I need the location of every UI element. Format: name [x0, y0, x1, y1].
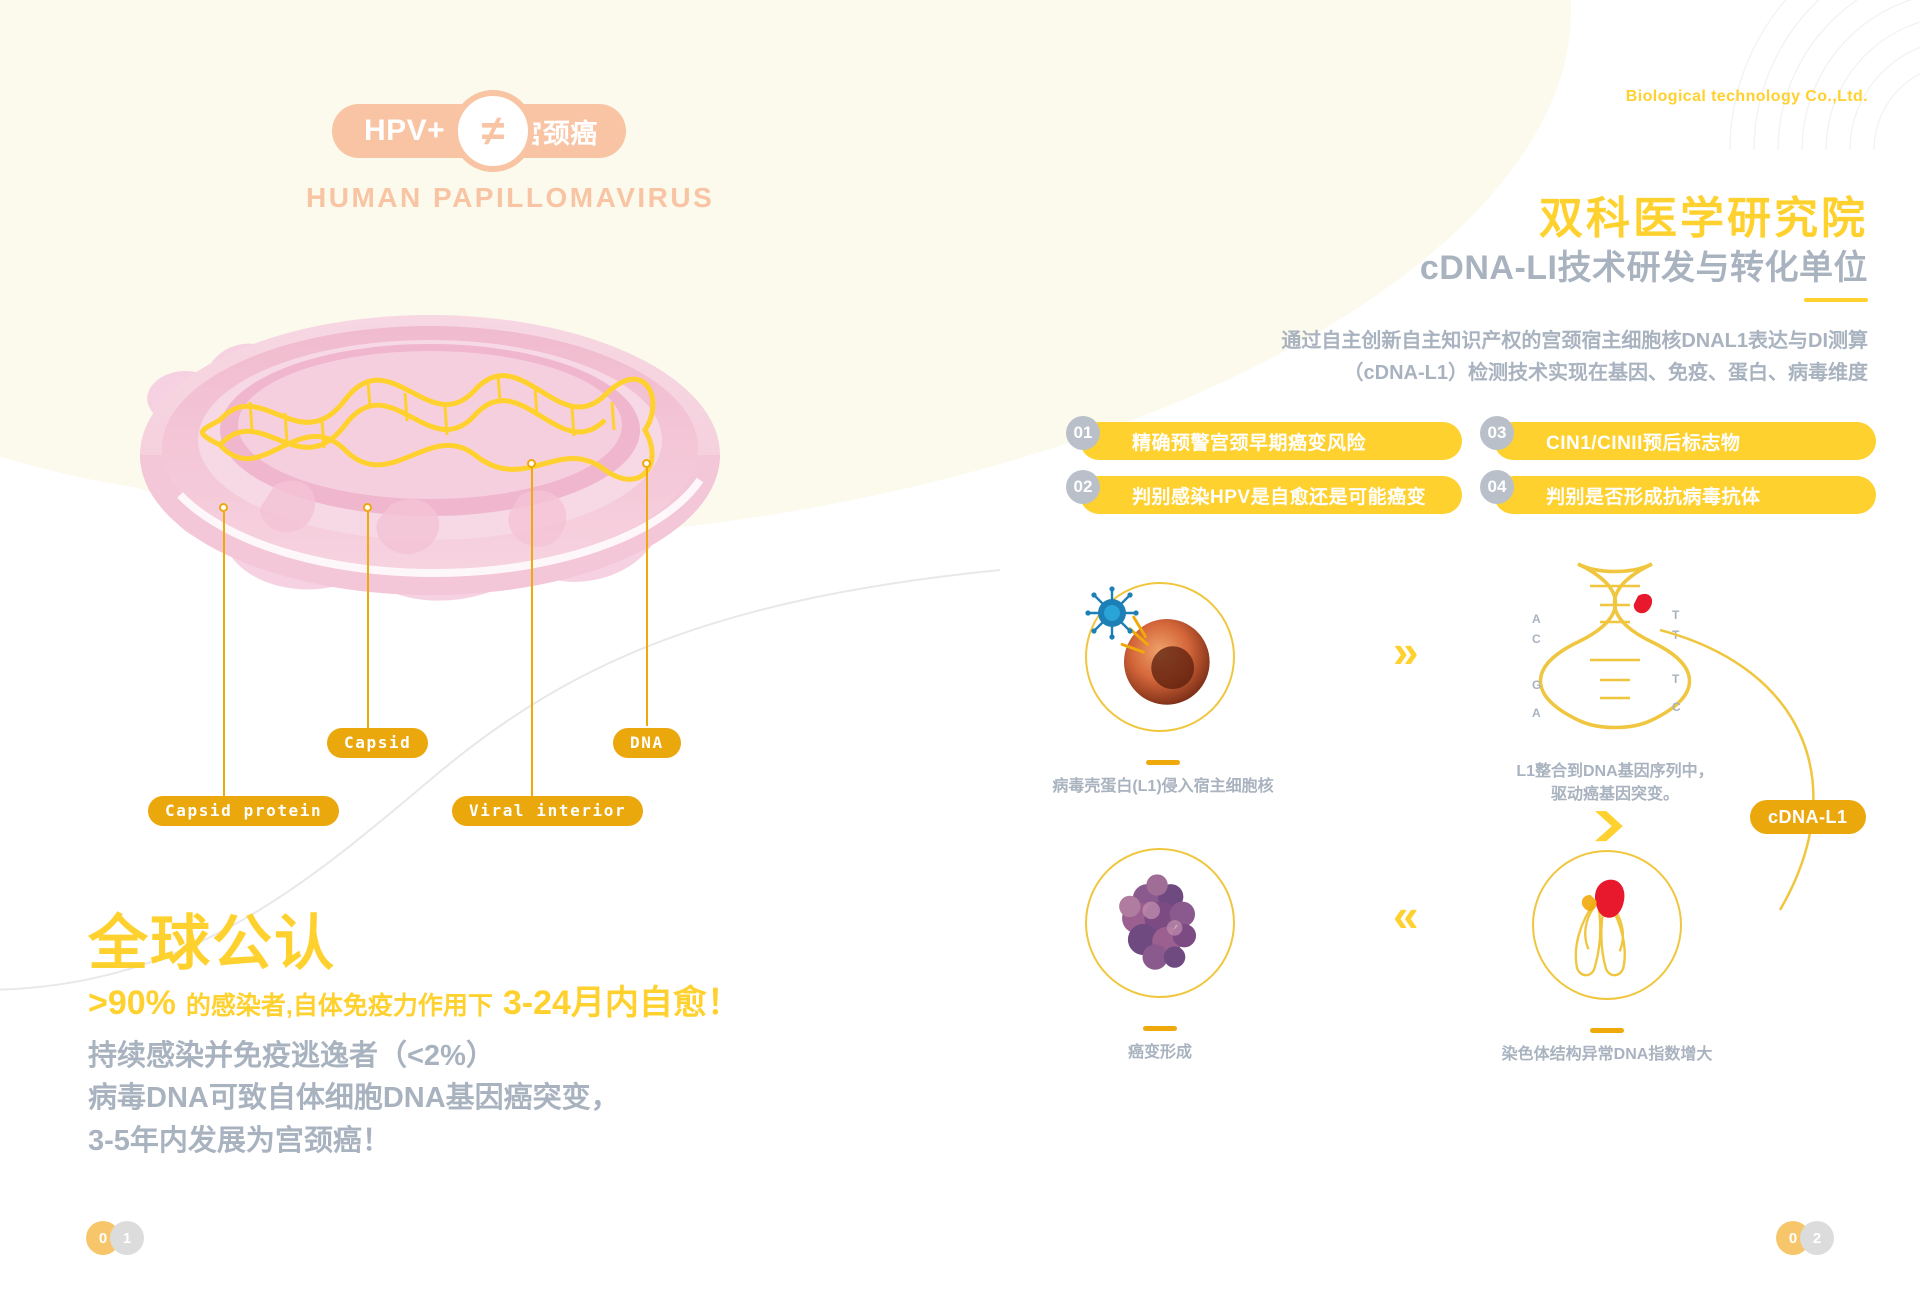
virus-illustration [100, 280, 900, 630]
virus-particle-icon [1085, 586, 1139, 640]
tag-viral-interior: Viral interior [452, 796, 643, 826]
feature-label-04: 判别是否形成抗病毒抗体 [1546, 482, 1761, 509]
dna-base-C1: C [1532, 632, 1541, 646]
step4-caption-text: 癌变形成 [1075, 1041, 1245, 1064]
dna-base-G1: G [1532, 678, 1541, 692]
step3-caption-text: 染色体结构异常DNA指数增大 [1452, 1043, 1762, 1066]
process-step-4: 癌变形成 [1085, 848, 1235, 998]
chromosome-icon [1534, 850, 1680, 1000]
page-number-right-second: 2 [1800, 1221, 1834, 1255]
step1-caption-text: 病毒壳蛋白(L1)侵入宿主细胞核 [1013, 775, 1313, 798]
feature-pill-02[interactable]: 02 判别感染HPV是自愈还是可能癌变 [1066, 476, 1462, 514]
step4-circle-frame [1085, 848, 1235, 998]
pin-viral-interior [527, 459, 536, 468]
institute-description: 通过自主创新自主知识产权的宫颈宿主细胞核DNAL1表达与DI测算 （cDNA-L… [1281, 325, 1868, 389]
left-panel: HPV+ 宫颈癌 ≠ HUMAN PAPILLOMAVIRUS [0, 0, 1010, 1303]
description-line-1: 通过自主创新自主知识产权的宫颈宿主细胞核DNAL1表达与DI测算 [1281, 325, 1868, 357]
stat-middle-text: 的感染者,自体免疫力作用下 [186, 986, 493, 1022]
institute-subtitle: cDNA-LI技术研发与转化单位 [1420, 240, 1868, 289]
tag-capsid: Capsid [327, 728, 428, 758]
hpv-badge-left-label: HPV+ [364, 114, 445, 148]
body-line-1: 持续感染并免疫逃逸者（<2%） [88, 1035, 620, 1077]
leader-capsid-protein [223, 512, 225, 802]
feature-pill-grid: 01 精确预警宫颈早期癌变风险 03 CIN1/CINII预后标志物 02 判 [1066, 422, 1876, 530]
feature-pill-row-1: 01 精确预警宫颈早期癌变风险 03 CIN1/CINII预后标志物 [1066, 422, 1876, 460]
feature-number-02: 02 [1066, 470, 1100, 504]
leader-capsid [367, 512, 369, 734]
page-number-left: 0 1 [86, 1221, 144, 1255]
feature-label-01: 精确预警宫颈早期癌变风险 [1132, 428, 1366, 455]
feature-bar-04: 判别是否形成抗病毒抗体 [1494, 476, 1876, 514]
tag-dna: DNA [613, 728, 681, 758]
feature-bar-01: 精确预警宫颈早期癌变风险 [1080, 422, 1462, 460]
not-equal-icon: ≠ [452, 90, 534, 172]
feature-pill-04[interactable]: 04 判别是否形成抗病毒抗体 [1480, 476, 1876, 514]
body-line-3: 3-5年内发展为宫颈癌！ [88, 1120, 620, 1162]
feature-number-04: 04 [1480, 470, 1514, 504]
page-number-right: 0 2 [1776, 1221, 1834, 1255]
dna-base-A2: A [1532, 706, 1541, 720]
leader-dna [646, 468, 648, 726]
stat-tail-text: 3-24月内自愈！ [503, 975, 741, 1024]
step3-caption-dash [1590, 1028, 1624, 1033]
feature-number-03: 03 [1480, 416, 1514, 450]
pin-dna [642, 459, 651, 468]
feature-label-02: 判别感染HPV是自愈还是可能癌变 [1132, 482, 1426, 509]
dna-base-A1: A [1532, 612, 1541, 626]
company-name: Biological technology Co.,Ltd. [1626, 88, 1868, 106]
body-copy: 持续感染并免疫逃逸者（<2%） 病毒DNA可致自体细胞DNA基因癌突变， 3-5… [88, 1035, 620, 1162]
cdna-l1-tag: cDNA-L1 [1750, 800, 1866, 834]
stat-line: >90% 的感染者,自体免疫力作用下 3-24月内自愈！ [88, 975, 741, 1024]
right-panel: Biological technology Co.,Ltd. 双科医学研究院 c… [1010, 0, 1920, 1303]
title-divider [1804, 298, 1868, 302]
tag-capsid-protein: Capsid protein [148, 796, 339, 826]
leader-viral-interior [531, 468, 533, 802]
not-equal-glyph: ≠ [481, 110, 504, 152]
feature-number-01: 01 [1066, 416, 1100, 450]
feature-bar-03: CIN1/CINII预后标志物 [1494, 422, 1876, 460]
stat-value: >90% [88, 984, 176, 1023]
process-arrow-right: » [1393, 628, 1419, 674]
headline: 全球公认 [88, 895, 336, 982]
hpv-subtitle: HUMAN PAPILLOMAVIRUS [306, 182, 714, 214]
process-diagram: 病毒壳蛋白(L1)侵入宿主细胞核 » [1010, 560, 1920, 1080]
step3-caption: 染色体结构异常DNA指数增大 [1452, 1028, 1762, 1066]
page-number-left-second: 1 [110, 1221, 144, 1255]
feature-pill-03[interactable]: 03 CIN1/CINII预后标志物 [1480, 422, 1876, 460]
process-arrow-down: ❯ [1587, 810, 1630, 840]
feature-pill-row-2: 02 判别感染HPV是自愈还是可能癌变 04 判别是否形成抗病毒抗体 [1066, 476, 1876, 514]
description-line-2: （cDNA-L1）检测技术实现在基因、免疫、蛋白、病毒维度 [1281, 357, 1868, 389]
process-arrow-left: « [1393, 892, 1419, 938]
step4-caption: 癌变形成 [1075, 1026, 1245, 1064]
body-line-2: 病毒DNA可致自体细胞DNA基因癌突变， [88, 1077, 620, 1119]
tumor-cluster-icon [1087, 848, 1233, 998]
pin-capsid [363, 503, 372, 512]
feature-bar-02: 判别感染HPV是自愈还是可能癌变 [1080, 476, 1462, 514]
infographic-page: HPV+ 宫颈癌 ≠ HUMAN PAPILLOMAVIRUS [0, 0, 1920, 1303]
step1-caption: 病毒壳蛋白(L1)侵入宿主细胞核 [1013, 760, 1313, 798]
step4-caption-dash [1143, 1026, 1177, 1031]
step1-caption-dash [1146, 760, 1180, 765]
pin-capsid-protein [219, 503, 228, 512]
feature-label-03: CIN1/CINII预后标志物 [1546, 428, 1740, 455]
step1-circle-frame [1085, 582, 1235, 732]
institute-title: 双科医学研究院 [1539, 182, 1868, 246]
process-step-3: 染色体结构异常DNA指数增大 [1532, 850, 1682, 1000]
process-step-1: 病毒壳蛋白(L1)侵入宿主细胞核 [1085, 582, 1235, 732]
step3-circle-frame [1532, 850, 1682, 1000]
feature-pill-01[interactable]: 01 精确预警宫颈早期癌变风险 [1066, 422, 1462, 460]
